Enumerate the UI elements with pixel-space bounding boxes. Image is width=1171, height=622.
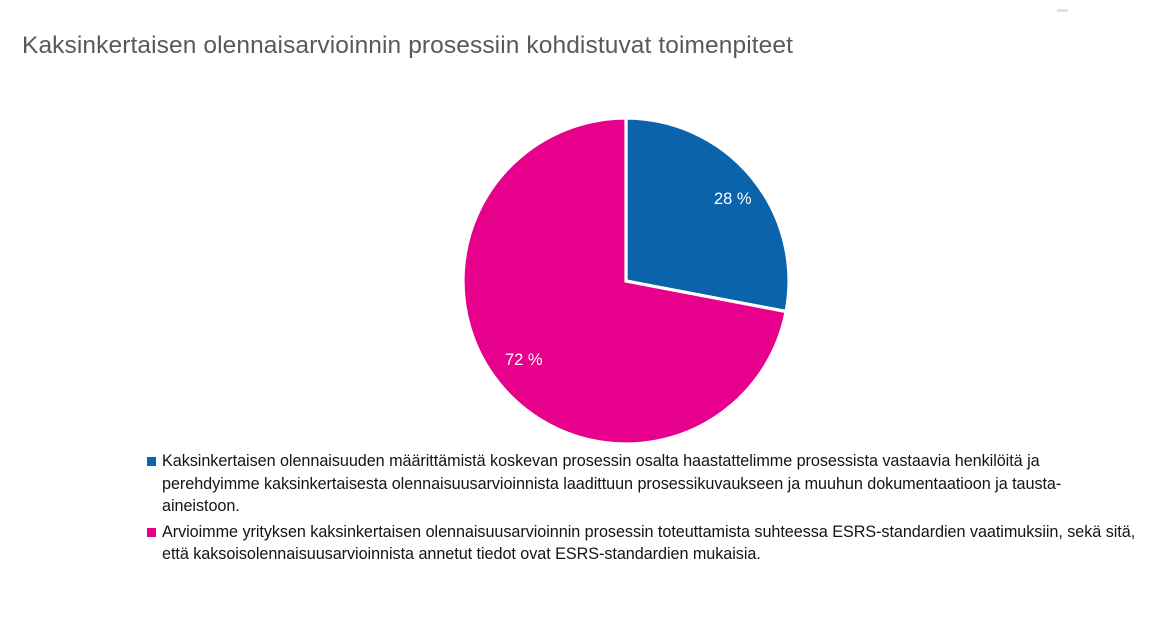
legend-item-blue[interactable]: Kaksinkertaisen olennaisuuden määrittämi… (143, 450, 1143, 518)
chart-legend: Kaksinkertaisen olennaisuuden määrittämi… (143, 450, 1143, 569)
pie-label-blue: 28 % (714, 190, 752, 209)
legend-label-blue: Kaksinkertaisen olennaisuuden määrittämi… (162, 450, 1138, 518)
chart-canvas: Kaksinkertaisen olennaisarvioinnin prose… (0, 0, 1171, 622)
legend-item-magenta[interactable]: Arvioimme yrityksen kaksinkertaisen olen… (143, 521, 1143, 566)
pie-slice-blue[interactable] (626, 118, 789, 312)
pie-plot-area: 28 % 72 % (0, 0, 1171, 450)
legend-marker-blue-square (147, 457, 156, 466)
pie-chart (443, 98, 809, 464)
legend-marker-magenta-square (147, 528, 156, 537)
legend-label-magenta: Arvioimme yrityksen kaksinkertaisen olen… (162, 521, 1150, 566)
pie-label-magenta: 72 % (505, 351, 543, 370)
